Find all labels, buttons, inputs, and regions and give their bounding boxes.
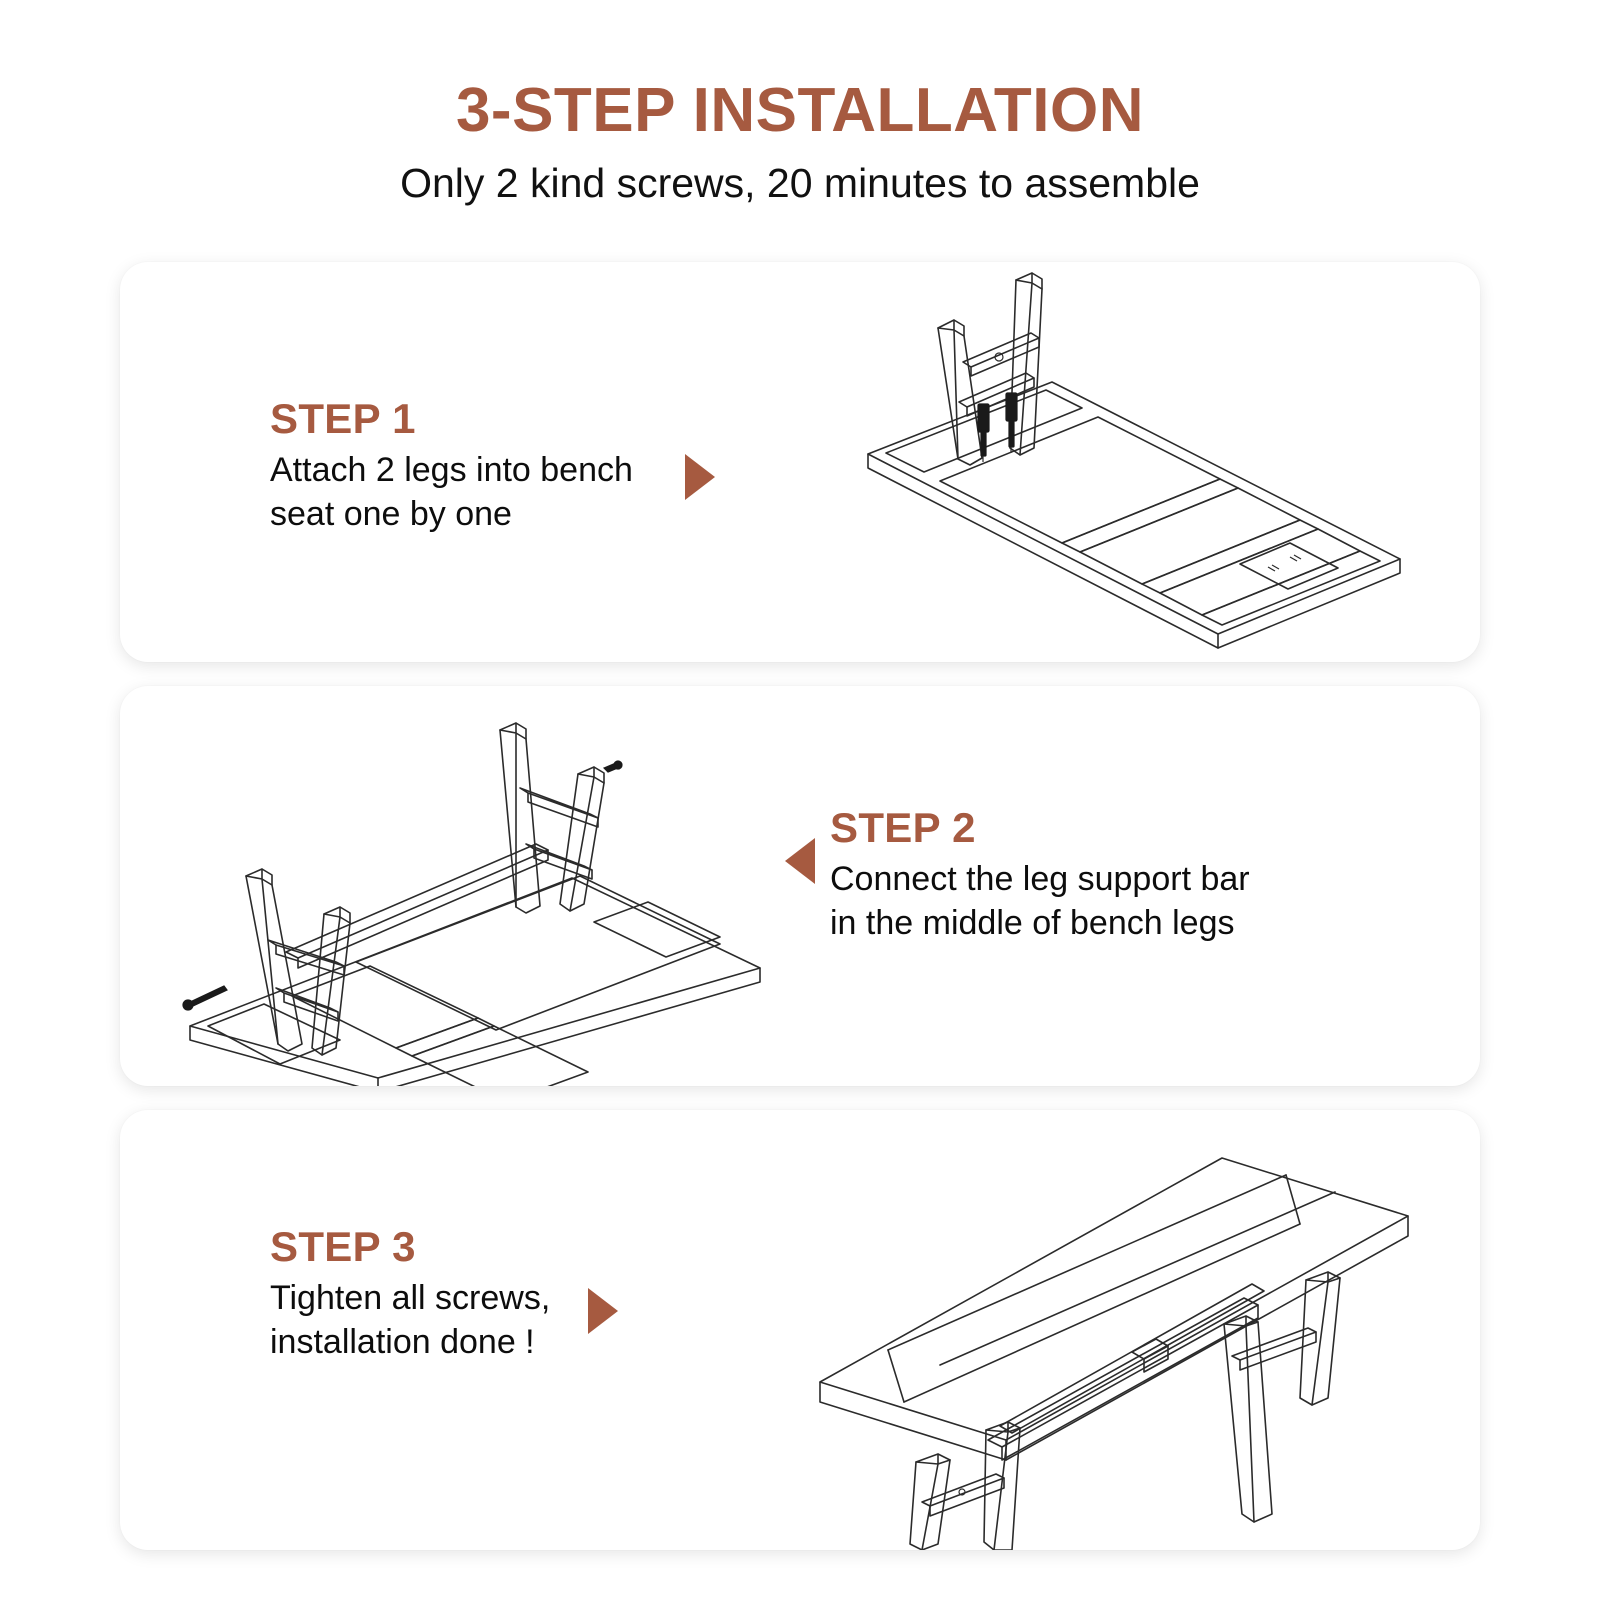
arrow-right-icon	[685, 454, 715, 500]
step-2-illustration-bench-frame-inverted-with-two-leg-pairs	[160, 696, 780, 1086]
step-1-illustration-bench-frame-with-one-leg-pair	[820, 262, 1440, 662]
step-3-illustration-completed-bench	[800, 1110, 1440, 1550]
step-3-label: STEP 3	[270, 1225, 670, 1269]
step-1-label: STEP 1	[270, 397, 690, 441]
installation-guide-page: 3-STEP INSTALLATION Only 2 kind screws, …	[0, 0, 1600, 1600]
step-2-description: Connect the leg support bar in the middl…	[830, 858, 1330, 945]
step-card-1: STEP 1 Attach 2 legs into bench seat one…	[120, 262, 1480, 662]
header: 3-STEP INSTALLATION Only 2 kind screws, …	[0, 78, 1600, 206]
arrow-right-icon	[588, 1288, 618, 1334]
step-1-text-block: STEP 1 Attach 2 legs into bench seat one…	[270, 397, 690, 536]
page-subtitle: Only 2 kind screws, 20 minutes to assemb…	[0, 161, 1600, 206]
page-title: 3-STEP INSTALLATION	[0, 78, 1600, 143]
step-1-description: Attach 2 legs into bench seat one by one	[270, 449, 690, 536]
step-card-3: STEP 3 Tighten all screws, installation …	[120, 1110, 1480, 1550]
step-2-text-block: STEP 2 Connect the leg support bar in th…	[830, 806, 1330, 945]
arrow-left-icon	[785, 838, 815, 884]
step-2-label: STEP 2	[830, 806, 1330, 850]
step-card-2: STEP 2 Connect the leg support bar in th…	[120, 686, 1480, 1086]
